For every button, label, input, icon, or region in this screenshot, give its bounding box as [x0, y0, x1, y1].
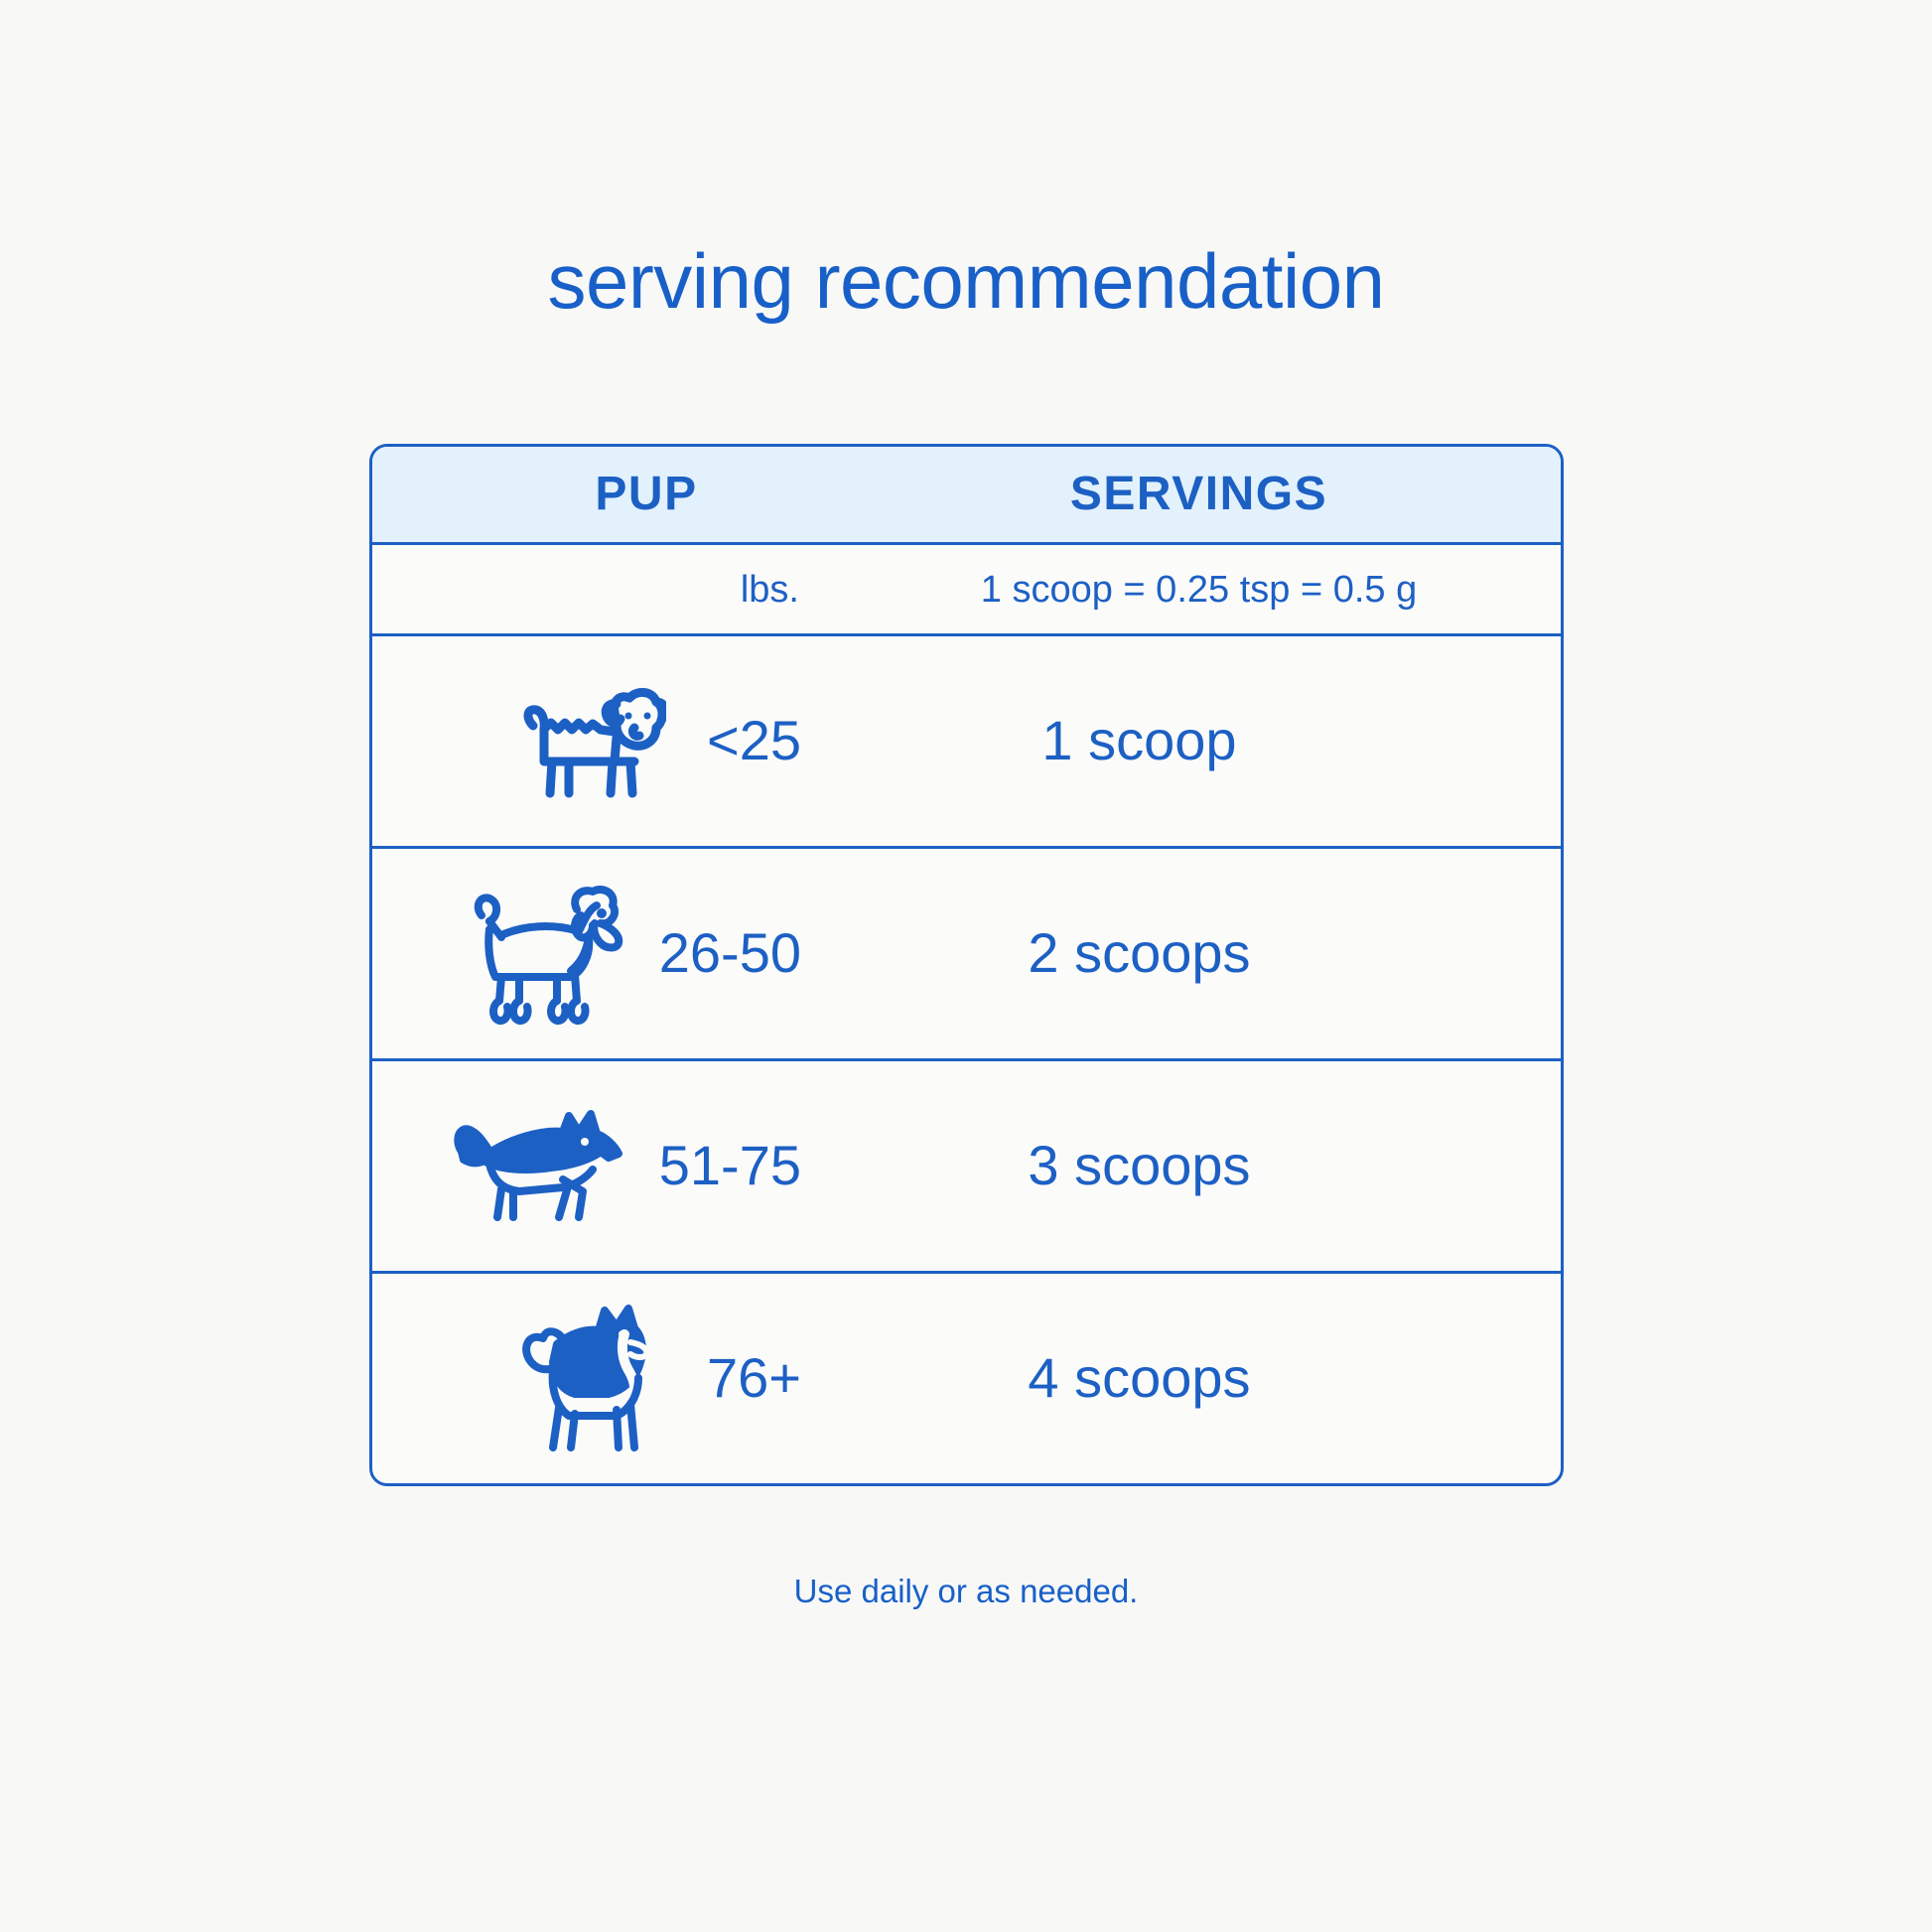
serving-recommendation-page: serving recommendation PUP SERVINGS	[0, 0, 1932, 1932]
servings-cell: 2 scoops	[837, 847, 1561, 1059]
table-row: <25 1 scoop	[372, 634, 1561, 847]
pup-cell: 76+	[372, 1272, 837, 1483]
servings-value: 1 scoop	[1041, 713, 1236, 768]
page-title: serving recommendation	[0, 242, 1932, 320]
header-cell-servings: SERVINGS	[837, 447, 1561, 544]
weight-value: 26-50	[659, 925, 801, 981]
unit-label-pounds: lbs.	[372, 571, 837, 609]
servings-cell: 4 scoops	[837, 1272, 1561, 1483]
usage-note: Use daily or as needed.	[0, 1575, 1932, 1607]
table-row: 76+ 4 scoops	[372, 1272, 1561, 1483]
serving-table: PUP SERVINGS lbs. 1 scoop = 0.25 tsp = 0…	[369, 444, 1564, 1486]
small-dog-icon	[492, 682, 691, 799]
pup-cell: <25	[372, 634, 837, 847]
column-header-pup: PUP	[372, 471, 837, 518]
weight-value: <25	[707, 713, 801, 768]
table-row: 26-50 2 scoops	[372, 847, 1561, 1059]
husky-dog-icon	[492, 1299, 691, 1457]
serving-table-grid: PUP SERVINGS lbs. 1 scoop = 0.25 tsp = 0…	[372, 447, 1561, 1483]
unit-label-scoop-conversion: 1 scoop = 0.25 tsp = 0.5 g	[837, 571, 1561, 609]
weight-value: 76+	[707, 1350, 801, 1406]
unit-cell-pup: lbs.	[372, 544, 837, 634]
shepherd-dog-icon	[445, 1100, 643, 1231]
servings-cell: 3 scoops	[837, 1059, 1561, 1272]
servings-value: 3 scoops	[1028, 1138, 1250, 1193]
table-unit-row: lbs. 1 scoop = 0.25 tsp = 0.5 g	[372, 544, 1561, 634]
table-header-row: PUP SERVINGS	[372, 447, 1561, 544]
column-header-servings: SERVINGS	[837, 471, 1561, 518]
servings-value: 2 scoops	[1028, 925, 1250, 981]
servings-cell: 1 scoop	[837, 634, 1561, 847]
weight-value: 51-75	[659, 1138, 801, 1193]
servings-value: 4 scoops	[1028, 1350, 1250, 1406]
pup-cell: 51-75	[372, 1059, 837, 1272]
header-cell-pup: PUP	[372, 447, 837, 544]
unit-cell-servings: 1 scoop = 0.25 tsp = 0.5 g	[837, 544, 1561, 634]
poodle-dog-icon	[445, 880, 643, 1027]
pup-cell: 26-50	[372, 847, 837, 1059]
table-row: 51-75 3 scoops	[372, 1059, 1561, 1272]
